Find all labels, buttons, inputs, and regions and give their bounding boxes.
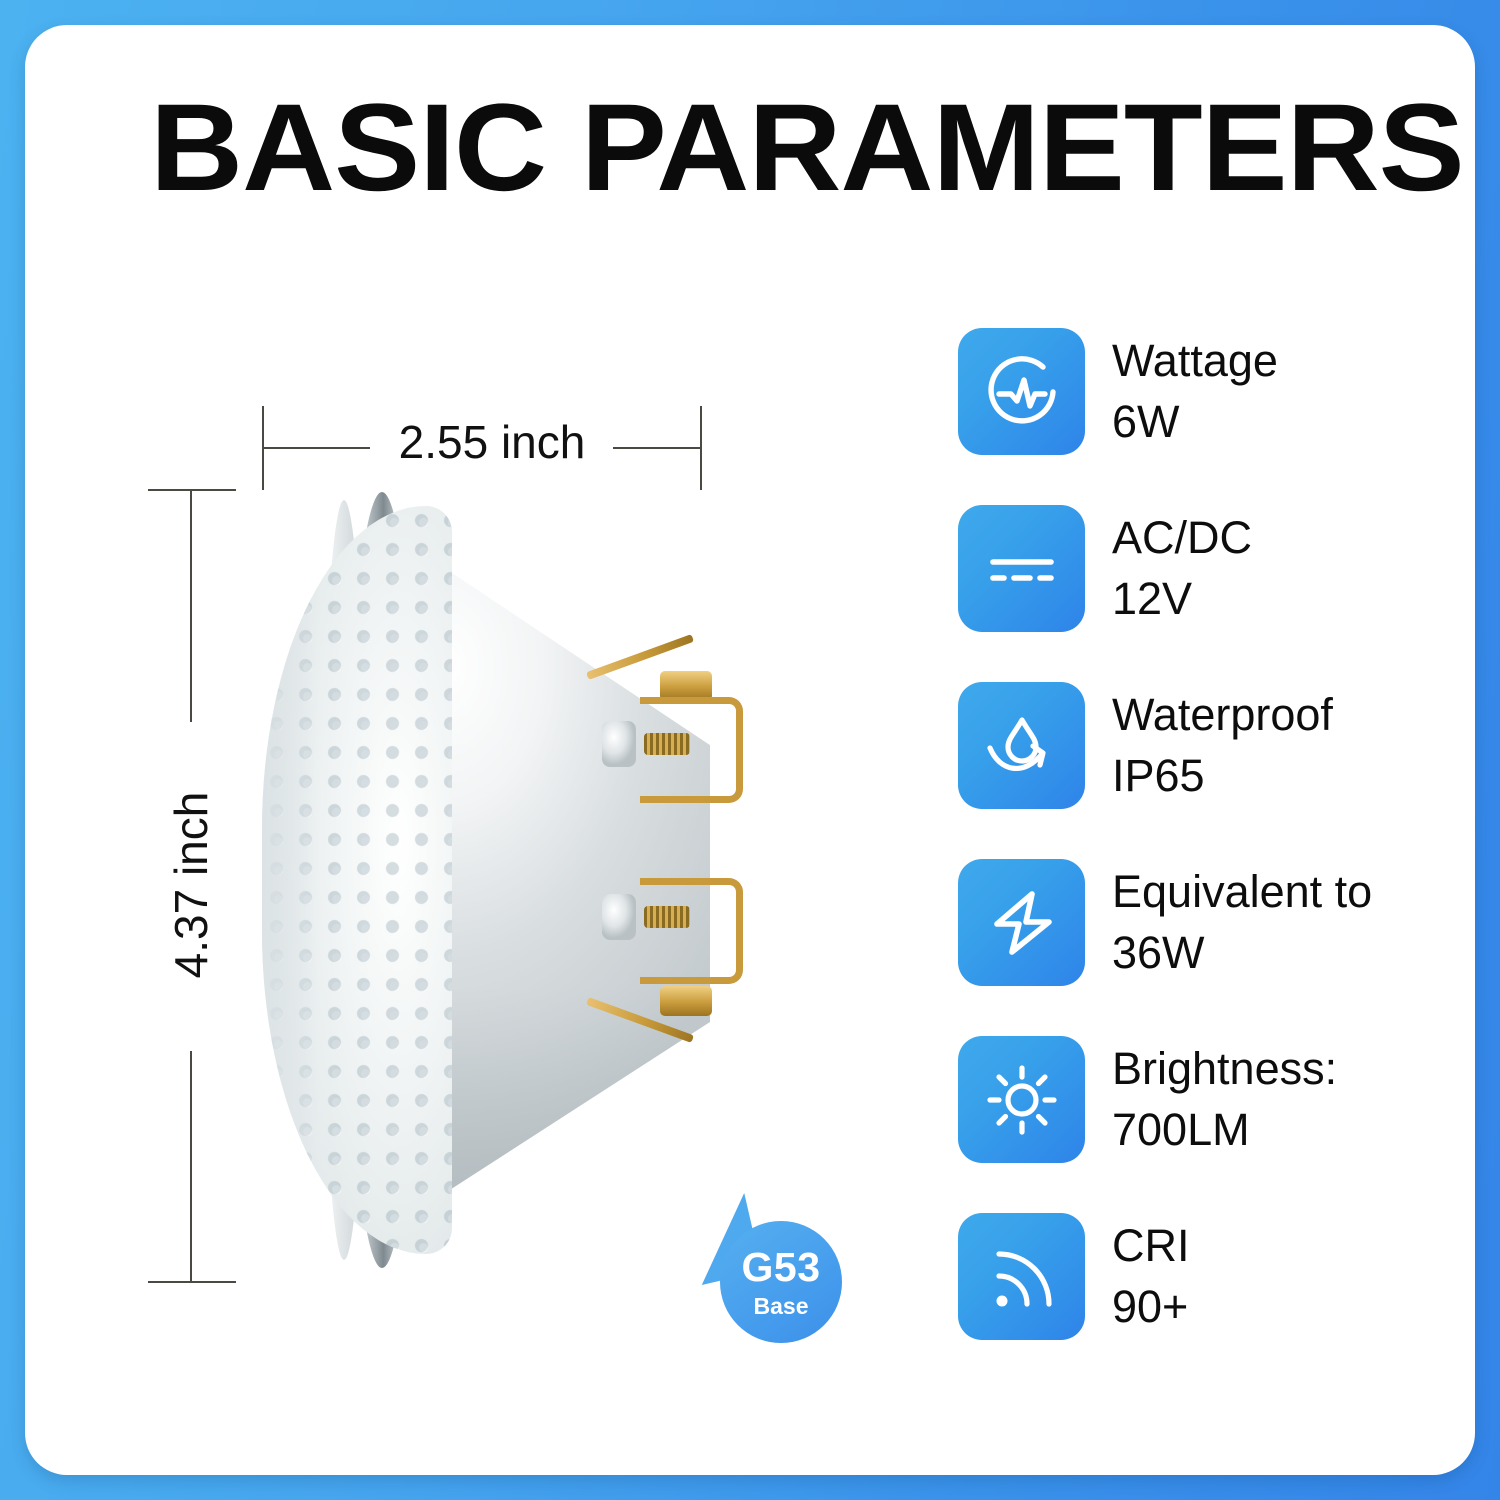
spec-item-acdc: AC/DC 12V [958, 505, 1428, 682]
spec-value-equivalent: 36W [1112, 922, 1432, 983]
width-dimension-bar-right [613, 447, 702, 449]
spec-value-acdc: 12V [1112, 568, 1432, 629]
height-dimension-cap-bottom [148, 1281, 236, 1283]
cri-signal-icon [958, 1213, 1085, 1340]
spec-text-equivalent: Equivalent to 36W [1112, 861, 1432, 983]
spec-item-equivalent: Equivalent to 36W [958, 859, 1428, 1036]
badge-bubble: G53 Base [720, 1221, 842, 1343]
lamp-textured-lens [262, 506, 452, 1254]
page-title: BASIC PARAMETERS [150, 86, 1464, 210]
ac-dc-icon [958, 505, 1085, 632]
base-type-badge: G53 Base [690, 1195, 880, 1375]
spec-text-waterproof: Waterproof IP65 [1112, 684, 1432, 806]
product-image-par36-lamp [262, 470, 732, 1290]
spec-label-cri: CRI [1112, 1220, 1190, 1271]
height-dimension-bar-top [190, 489, 192, 722]
spec-text-brightness: Brightness: 700LM [1112, 1038, 1432, 1160]
spec-value-cri: 90+ [1112, 1276, 1432, 1337]
spec-item-waterproof: Waterproof IP65 [958, 682, 1428, 859]
spec-text-cri: CRI 90+ [1112, 1215, 1432, 1337]
spec-value-brightness: 700LM [1112, 1099, 1432, 1160]
spec-text-acdc: AC/DC 12V [1112, 507, 1432, 629]
spec-item-wattage: Wattage 6W [958, 328, 1428, 505]
brightness-sun-icon [958, 1036, 1085, 1163]
spec-label-equivalent: Equivalent to [1112, 866, 1372, 917]
width-dimension-bar-left [262, 447, 370, 449]
height-dimension-cap-top [148, 489, 236, 491]
width-dimension-label: 2.55 inch [370, 415, 614, 469]
height-dimension-bar-bottom [190, 1051, 192, 1283]
waterproof-droplet-icon [958, 682, 1085, 809]
wattage-pulse-icon [958, 328, 1085, 455]
spec-label-waterproof: Waterproof [1112, 689, 1333, 740]
spec-list: Wattage 6W AC/DC 12V [958, 328, 1428, 1390]
spec-label-wattage: Wattage [1112, 335, 1278, 386]
lightning-bolt-icon [958, 859, 1085, 986]
spec-label-brightness: Brightness: [1112, 1043, 1337, 1094]
spec-label-acdc: AC/DC [1112, 512, 1252, 563]
height-dimension-label: 4.37 inch [164, 720, 218, 1050]
badge-code: G53 [742, 1247, 821, 1288]
spec-value-wattage: 6W [1112, 391, 1432, 452]
badge-caption: Base [754, 1295, 809, 1318]
spec-item-brightness: Brightness: 700LM [958, 1036, 1428, 1213]
spec-text-wattage: Wattage 6W [1112, 330, 1432, 452]
spec-value-waterproof: IP65 [1112, 745, 1432, 806]
infographic-canvas: BASIC PARAMETERS 2.55 inch 4.37 inch [0, 0, 1500, 1500]
spec-item-cri: CRI 90+ [958, 1213, 1428, 1390]
